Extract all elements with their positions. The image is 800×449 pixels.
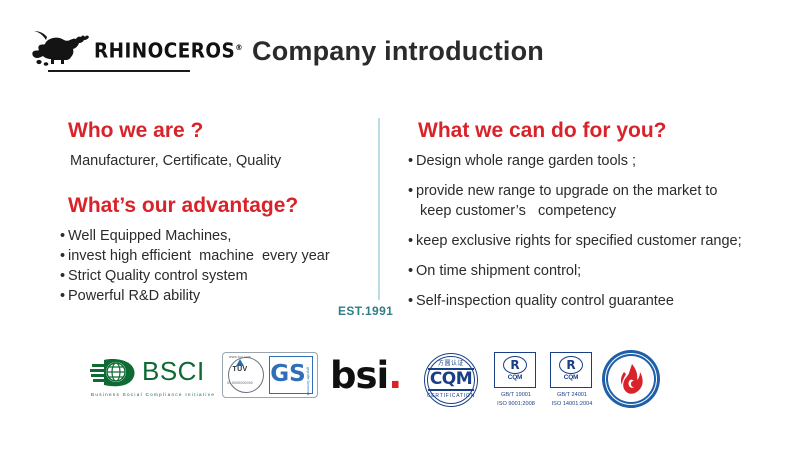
- tuv-triangle-icon: [236, 359, 244, 366]
- heading-what-we-can-do: What we can do for you?: [418, 118, 788, 144]
- advantage-bullet-list: •Well Equipped Machines, •invest high ef…: [60, 226, 372, 306]
- list-item-label: Well Equipped Machines,: [68, 228, 231, 244]
- rcqm-standard-line-2: ISO 9001:2008: [492, 401, 540, 407]
- bullet-dot-icon: •: [60, 286, 65, 306]
- right-content-column: What we can do for you? •Design whole ra…: [408, 118, 788, 311]
- list-item: •Design whole range garden tools ;: [408, 151, 788, 171]
- list-item: •Well Equipped Machines,: [60, 226, 372, 246]
- cqm-chinese-text: 方圆认证: [422, 358, 480, 367]
- gs-frame: GS geprüfte Sicherheit: [269, 356, 313, 394]
- tuv-circle-icon: [228, 357, 264, 393]
- bsci-wordmark: BSCI: [142, 356, 205, 386]
- bullet-dot-icon: •: [60, 266, 65, 286]
- certification-logo-strip: BSCI Business Social Compliance Initiati…: [0, 348, 800, 426]
- rcqm-standard-line-1: GB/T 24001: [548, 392, 596, 398]
- brand-underline-rule: [48, 70, 190, 72]
- list-item-label: On time shipment control;: [416, 263, 581, 279]
- list-item-label: Powerful R&D ability: [68, 288, 200, 304]
- bullet-dot-icon: •: [408, 261, 413, 281]
- gs-wordmark: GS: [270, 361, 306, 387]
- cqm-rule-bottom: [428, 389, 474, 391]
- bsi-logo: bsi.: [330, 356, 410, 400]
- list-item: •Strict Quality control system: [60, 266, 372, 286]
- bullet-dot-icon: •: [408, 291, 413, 311]
- rhinoceros-icon: [26, 29, 98, 69]
- tuv-gs-logo: www.tuv.com TÜV ID 0000000000 GS geprüft…: [222, 352, 320, 402]
- list-item-label: Strict Quality control system: [68, 268, 248, 284]
- bullet-dot-icon: •: [60, 246, 65, 266]
- rcqm-iso14001-logo: R CQM GB/T 24001 ISO 14001:2004: [548, 352, 596, 414]
- list-item: •invest high efficient machine every yea…: [60, 246, 372, 266]
- flame-seal-logo: 中国质量认证中心 CERTIFICATION: [602, 350, 662, 410]
- bsci-logo: BSCI Business Social Compliance Initiati…: [90, 354, 212, 408]
- bsi-red-dot-icon: .: [388, 354, 401, 397]
- list-item: •Powerful R&D ability: [60, 286, 372, 306]
- rcqm-standard-line-1: GB/T 19001: [492, 392, 540, 398]
- flame-seal-bottom-text: CERTIFICATION: [616, 388, 645, 400]
- rcqm-sub-mark: CQM: [494, 374, 536, 381]
- registered-trademark-mark: ®: [235, 43, 243, 52]
- list-item-label: keep exclusive rights for specified cust…: [416, 233, 742, 249]
- bullet-dot-icon: •: [408, 231, 413, 251]
- subtitle-who-we-are: Manufacturer, Certificate, Quality: [70, 151, 372, 171]
- tuv-wordmark: TÜV: [222, 366, 258, 373]
- bullet-dot-icon: •: [60, 226, 65, 246]
- list-item: •Self-inspection quality control guarant…: [408, 291, 788, 311]
- list-item-label: invest high efficient machine every year: [68, 248, 330, 264]
- heading-our-advantage: What’s our advantage?: [68, 193, 372, 219]
- bsi-wordmark-text: bsi: [330, 354, 388, 397]
- cqm-wordmark: CQM: [422, 370, 480, 388]
- cqm-logo: 方圆认证 CQM CERTIFICATION: [422, 351, 482, 409]
- slide-header: RHINOCEROS® Company introduction: [0, 0, 800, 92]
- tuv-arc-top-text: www.tuv.com: [222, 355, 258, 359]
- cqm-certification-text: CERTIFICATION: [422, 393, 480, 399]
- flame-seal-top-text: 中国质量认证中心: [610, 356, 653, 379]
- page-title: Company introduction: [252, 36, 544, 67]
- list-item-label: provide new range to upgrade on the mark…: [416, 183, 717, 219]
- list-item: •On time shipment control;: [408, 261, 788, 281]
- svg-text:CERTIFICATION: CERTIFICATION: [616, 388, 645, 400]
- heading-who-we-are: Who we are ?: [68, 118, 372, 144]
- tuv-arc-bottom-text: ID 0000000000: [222, 381, 258, 385]
- brand-wordmark-text: RHINOCEROS: [94, 39, 235, 63]
- gs-side-text: geprüfte Sicherheit: [306, 367, 310, 395]
- list-item-label: Design whole range garden tools ;: [416, 153, 636, 169]
- left-content-column: Who we are ? Manufacturer, Certificate, …: [60, 118, 372, 306]
- rcqm-standard-line-2: ISO 14001:2004: [548, 401, 596, 407]
- rcqm-r-mark: R: [559, 357, 583, 373]
- list-item: •keep exclusive rights for specified cus…: [408, 231, 788, 251]
- rcqm-r-mark: R: [503, 357, 527, 373]
- rcqm-iso9001-logo: R CQM GB/T 19001 ISO 9001:2008: [492, 352, 540, 414]
- bullet-dot-icon: •: [408, 151, 413, 171]
- brand-logo: RHINOCEROS®: [26, 29, 202, 75]
- slide-company-introduction: RHINOCEROS® Company introduction EST.199…: [0, 0, 800, 449]
- flame-seal-text-ring: 中国质量认证中心 CERTIFICATION: [602, 350, 660, 408]
- bsci-tagline: Business Social Compliance Initiative: [91, 392, 215, 397]
- list-item: •provide new range to upgrade on the mar…: [408, 181, 788, 221]
- brand-wordmark: RHINOCEROS®: [94, 38, 243, 61]
- services-bullet-list: •Design whole range garden tools ; •prov…: [408, 151, 788, 311]
- list-item-label: Self-inspection quality control guarante…: [416, 293, 674, 309]
- established-badge: EST.1991: [338, 304, 393, 318]
- bsi-wordmark: bsi.: [330, 356, 410, 396]
- bullet-dot-icon: •: [408, 181, 413, 201]
- bsci-hand-globe-icon: [90, 356, 140, 388]
- rcqm-sub-mark: CQM: [550, 374, 592, 381]
- column-divider: [378, 118, 380, 300]
- svg-text:中国质量认证中心: 中国质量认证中心: [610, 356, 653, 379]
